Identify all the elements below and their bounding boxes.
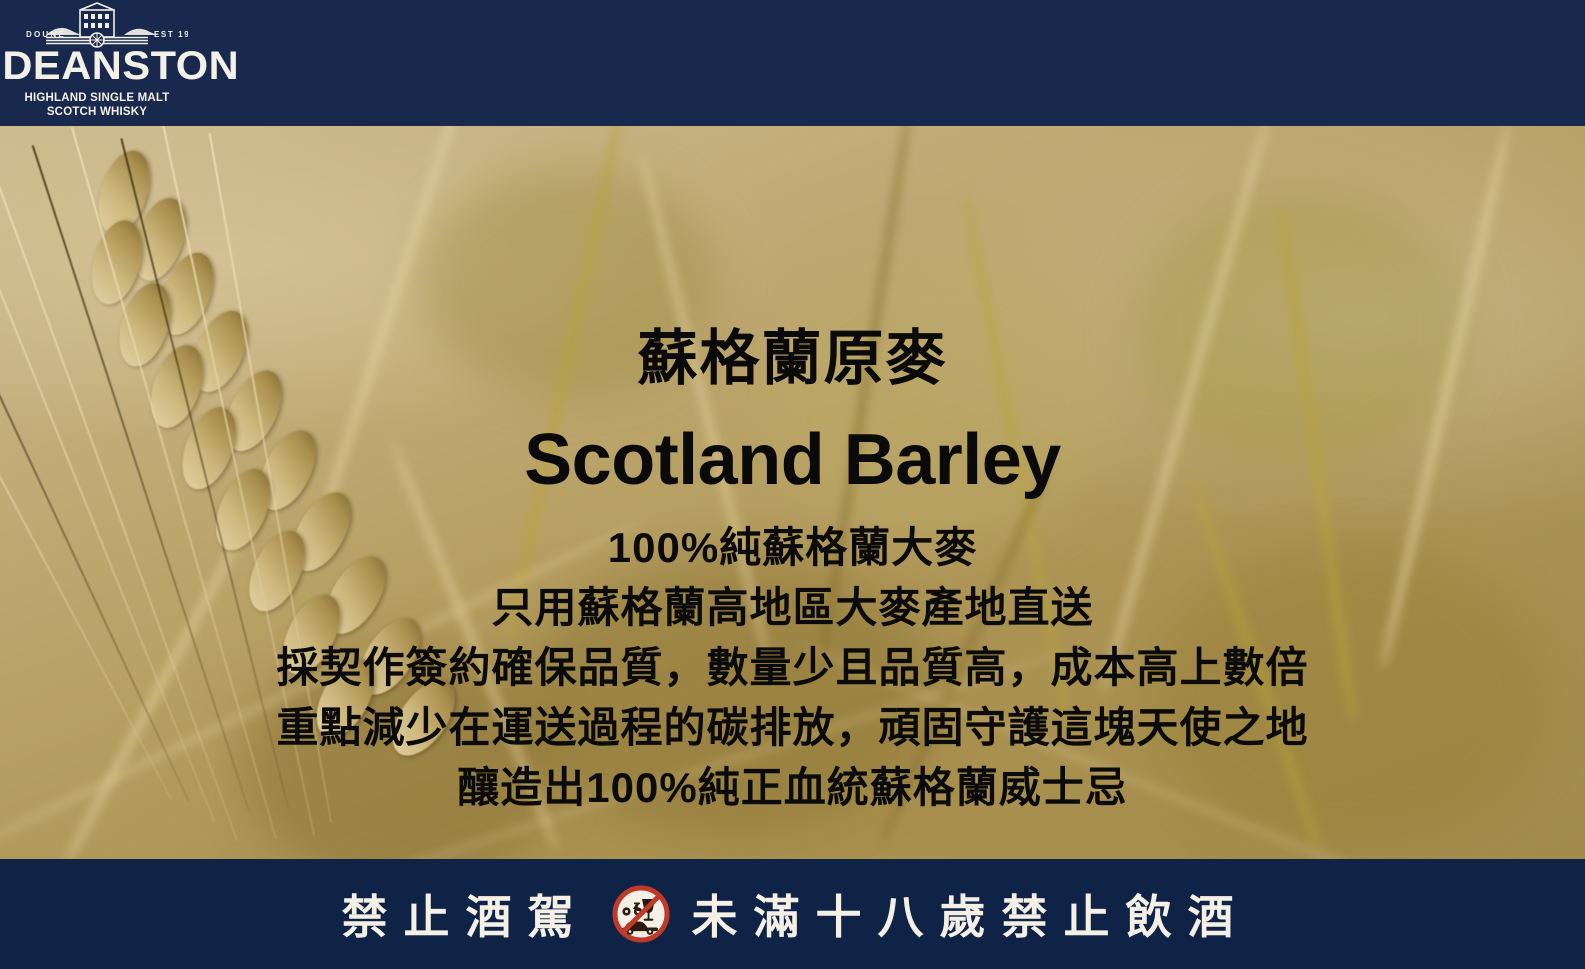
legal-warning-bar: 禁止酒駕	[0, 859, 1585, 969]
promo-banner: DOUNE EST 1966 DEANSTON HIGHLAND SINGLE …	[0, 0, 1585, 969]
deanston-logo[interactable]: DOUNE EST 1966 DEANSTON HIGHLAND SINGLE …	[6, 2, 188, 122]
brand-wordmark: DEANSTON	[2, 46, 191, 86]
no-drink-driving-icon	[612, 885, 670, 943]
brand-tagline: HIGHLAND SINGLE MALT SCOTCH WHISKY	[6, 91, 188, 120]
hero-body-line: 100%純蘇格蘭大麥	[0, 518, 1585, 578]
warning-row: 禁止酒駕	[336, 881, 1250, 947]
crest-left-label: DOUNE	[26, 30, 66, 39]
hero-body-line: 採契作簽約確保品質，數量少且品質高，成本高上數倍	[0, 638, 1585, 698]
hero-body-line: 只用蘇格蘭高地區大麥產地直送	[0, 578, 1585, 638]
no-drink-driving-text: 禁止酒駕	[336, 881, 590, 947]
hero-body-copy: 100%純蘇格蘭大麥 只用蘇格蘭高地區大麥產地直送 採契作簽約確保品質，數量少且…	[0, 518, 1585, 818]
hero-title-english: Scotland Barley	[0, 424, 1585, 496]
tagline-line-1: HIGHLAND SINGLE MALT	[6, 91, 188, 105]
brand-header: DOUNE EST 1966 DEANSTON HIGHLAND SINGLE …	[0, 0, 1585, 126]
hero-content: 蘇格蘭原麥 Scotland Barley 100%純蘇格蘭大麥 只用蘇格蘭高地…	[0, 126, 1585, 859]
age-restriction-text: 未滿十八歲禁止飲酒	[692, 881, 1250, 947]
distillery-crest-icon: DOUNE EST 1966	[6, 2, 188, 48]
hero-body-line: 重點減少在運送過程的碳排放，頑固守護這塊天使之地	[0, 698, 1585, 758]
crest-right-label: EST 1966	[154, 30, 188, 39]
tagline-line-2: SCOTCH WHISKY	[6, 105, 188, 119]
hero-title-chinese: 蘇格蘭原麥	[0, 329, 1585, 389]
hero-body-line: 釀造出100%純正血統蘇格蘭威士忌	[0, 758, 1585, 818]
